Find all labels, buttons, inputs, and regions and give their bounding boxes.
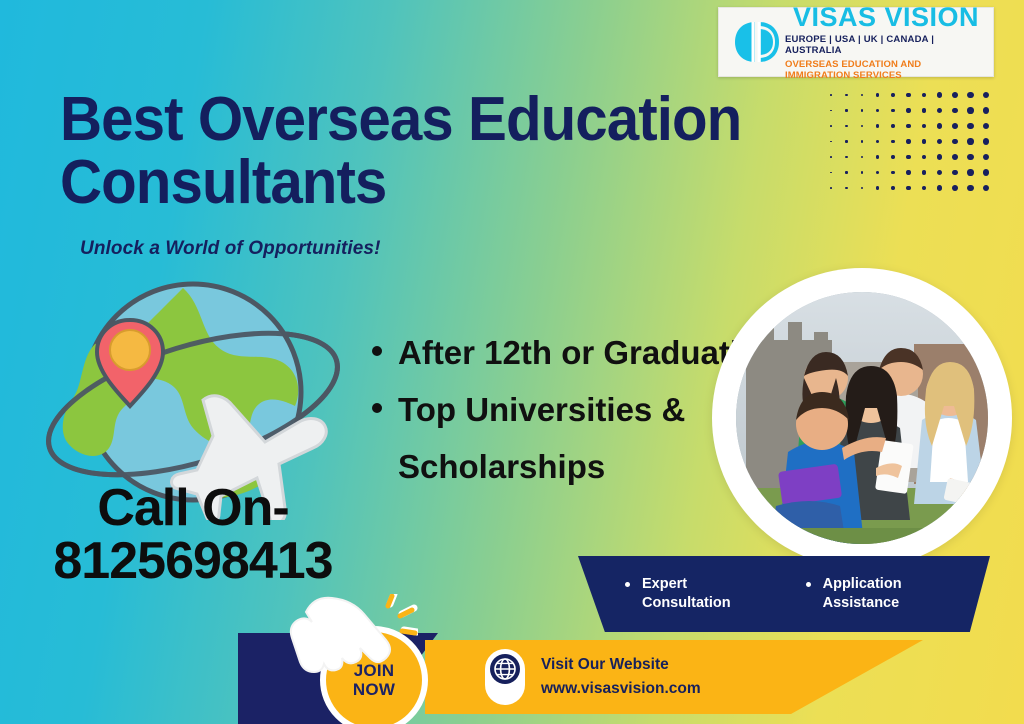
call-label: Call On- xyxy=(18,482,368,535)
promotional-banner: VISAS VISION EUROPE | USA | UK | CANADA … xyxy=(0,0,1024,724)
brand-countries: EUROPE | USA | UK | CANADA | AUSTRALIA xyxy=(785,34,987,56)
headline-line-2: Consultants xyxy=(60,151,840,214)
dot-grid-decoration xyxy=(824,88,984,184)
subheadline: Unlock a World of Opportunities! xyxy=(80,238,381,260)
service-line-2: Consultation xyxy=(642,594,731,613)
brand-name: VISAS VISION xyxy=(793,4,979,31)
join-now-cta[interactable]: JOIN NOW xyxy=(288,594,458,724)
page-title: Best Overseas Education Consultants xyxy=(60,88,840,214)
service-item-expert-consultation: Expert Consultation xyxy=(625,575,731,613)
globe-icon xyxy=(489,653,521,685)
pointing-hand-icon xyxy=(288,594,418,684)
service-item-application-assistance: Application Assistance xyxy=(806,575,902,613)
visas-vision-globe-mark-icon xyxy=(729,18,785,66)
service-line-2: Assistance xyxy=(823,594,902,613)
service-line-1: Expert xyxy=(642,575,731,594)
website-label: Visit Our Website xyxy=(541,653,701,677)
phone-number[interactable]: 8125698413 xyxy=(18,535,368,588)
students-photo-ring xyxy=(712,268,1012,568)
website-block[interactable]: Visit Our Website www.visasvision.com xyxy=(485,648,701,706)
brand-tagline: OVERSEAS EDUCATION AND IMMIGRATION SERVI… xyxy=(785,59,987,81)
students-photo xyxy=(736,292,988,544)
website-url[interactable]: www.visasvision.com xyxy=(541,677,701,701)
services-bar: Expert Consultation Application Assistan… xyxy=(570,556,990,632)
headline-line-1: Best Overseas Education xyxy=(60,88,840,151)
globe-icon-pill xyxy=(485,649,525,705)
brand-logo: VISAS VISION EUROPE | USA | UK | CANADA … xyxy=(718,7,994,77)
website-text-block: Visit Our Website www.visasvision.com xyxy=(541,653,701,700)
logo-text-block: VISAS VISION EUROPE | USA | UK | CANADA … xyxy=(785,4,987,81)
service-line-1: Application xyxy=(823,575,902,594)
call-us-block: Call On- 8125698413 xyxy=(18,482,368,588)
